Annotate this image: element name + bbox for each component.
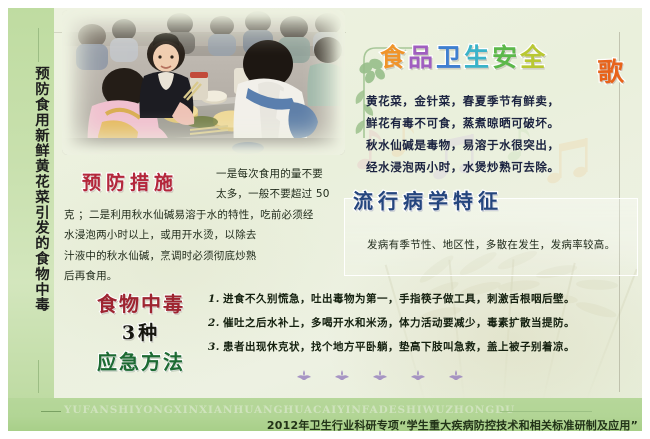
pinyin-title: YUFANSHIYONGXINXIANHUANGHUACAIYINFADESHI… bbox=[64, 404, 515, 416]
song-title: 食品卫生安全 bbox=[380, 38, 548, 74]
list-item-index: 3. bbox=[208, 341, 220, 353]
list-item: 1.进食不久别慌急，吐出毒物为第一，手指筷子做工具，刺激舌根咽后壁。 bbox=[208, 288, 636, 312]
sidebar-bottom-rule bbox=[38, 360, 39, 393]
song-verse-line: 鲜花有毒不可食，蒸煮晾晒可破坏。 bbox=[366, 112, 614, 134]
list-item-text: 患者出现休克状，找个地方平卧躺，垫高下肢叫急救，盖上被子别着凉。 bbox=[223, 341, 575, 353]
epidemiology-panel: 流行病学特征 发病有季节性、地区性，多散在发生，发病率较高。 bbox=[344, 198, 638, 276]
prevention-line: 克 ；二是利用秋水仙碱易溶于水的特性，吃前必须经 bbox=[64, 205, 364, 225]
cafeteria-photo bbox=[62, 10, 345, 155]
pinyin-rule-left bbox=[41, 411, 61, 412]
song-verse-line: 黄花菜，金针菜，春夏季节有鲜卖， bbox=[366, 90, 614, 112]
song-title-char-5: 全 bbox=[520, 43, 548, 72]
pinyin-rule-right bbox=[500, 411, 592, 412]
sidebar-top-rule bbox=[38, 28, 39, 62]
prevention-line: 一是每次食用的量不要 bbox=[216, 164, 364, 184]
song-verse-line: 经水浸泡两小时，水煲炒熟可去除。 bbox=[366, 156, 614, 178]
song-title-char-3: 生 bbox=[464, 43, 492, 72]
song-title-tail: 歌 bbox=[590, 57, 628, 84]
emergency-heading-line1: 食物中毒 bbox=[72, 288, 210, 317]
song-verse-line: 秋水仙碱是毒物，易溶于水很突出， bbox=[366, 134, 614, 156]
prevention-line: 汁液中的秋水仙碱，烹调时必须彻底炒熟 bbox=[64, 246, 364, 266]
song-title-char-2: 卫 bbox=[436, 43, 464, 72]
poster-canvas: 食品卫生安全 歌 黄花菜，金针菜，春夏季节有鲜卖， 鲜花有毒不可食，蒸煮晾晒可破… bbox=[54, 8, 642, 431]
emergency-list: 1.进食不久别慌急，吐出毒物为第一，手指筷子做工具，刺激舌根咽后壁。 2.催吐之… bbox=[208, 288, 636, 360]
song-title-char-1: 品 bbox=[408, 43, 436, 72]
list-item-text: 催吐之后水补上，多喝开水和米汤，体力活动要减少，毒素扩散当提防。 bbox=[223, 317, 575, 329]
poster-page: 预防食用新鲜黄花菜引发的食物中毒 18 bbox=[0, 0, 650, 439]
left-sidebar: 预防食用新鲜黄花菜引发的食物中毒 bbox=[8, 8, 54, 431]
prevention-line: 太多，一般不要超过 50 bbox=[216, 184, 364, 204]
list-item-index: 2. bbox=[208, 317, 220, 329]
footer-project-note: 2012年卫生行业科研专项“学生重大疾病防控技术和相关标准研制及应用” bbox=[267, 417, 638, 433]
emergency-heading: 食物中毒 3种 应急方法 bbox=[72, 288, 210, 375]
prevention-line: 水浸泡两小时以上，或用开水烫，以除去 bbox=[64, 225, 364, 245]
prevention-title: 预防措施 bbox=[82, 168, 178, 195]
list-item-index: 1. bbox=[208, 293, 220, 305]
list-item-text: 进食不久别慌急，吐出毒物为第一，手指筷子做工具，刺激舌根咽后壁。 bbox=[223, 293, 575, 305]
song-title-char-4: 安 bbox=[492, 43, 520, 72]
photo-feather-mask bbox=[62, 10, 345, 155]
emergency-heading-line3: 应急方法 bbox=[72, 346, 210, 375]
song-block: 食品卫生安全 歌 黄花菜，金针菜，春夏季节有鲜卖， 鲜花有毒不可食，蒸煮晾晒可破… bbox=[344, 34, 636, 199]
emergency-heading-line2: 3种 bbox=[72, 318, 210, 345]
song-title-char-0: 食 bbox=[380, 43, 408, 72]
epidemiology-text: 发病有季节性、地区性，多散在发生，发病率较高。 bbox=[367, 237, 615, 252]
fleur-ornament-row bbox=[292, 368, 492, 384]
emergency-section: 食物中毒 3种 应急方法 1.进食不久别慌急，吐出毒物为第一，手指筷子做工具，刺… bbox=[62, 284, 636, 394]
epidemiology-title: 流行病学特征 bbox=[353, 185, 503, 214]
song-verses: 黄花菜，金针菜，春夏季节有鲜卖， 鲜花有毒不可食，蒸煮晾晒可破坏。 秋水仙碱是毒… bbox=[366, 90, 614, 178]
list-item: 3.患者出现休克状，找个地方平卧躺，垫高下肢叫急救，盖上被子别着凉。 bbox=[208, 336, 636, 360]
sidebar-vertical-title: 预防食用新鲜黄花菜引发的食物中毒 bbox=[22, 66, 50, 312]
list-item: 2.催吐之后水补上，多喝开水和米汤，体力活动要减少，毒素扩散当提防。 bbox=[208, 312, 636, 336]
